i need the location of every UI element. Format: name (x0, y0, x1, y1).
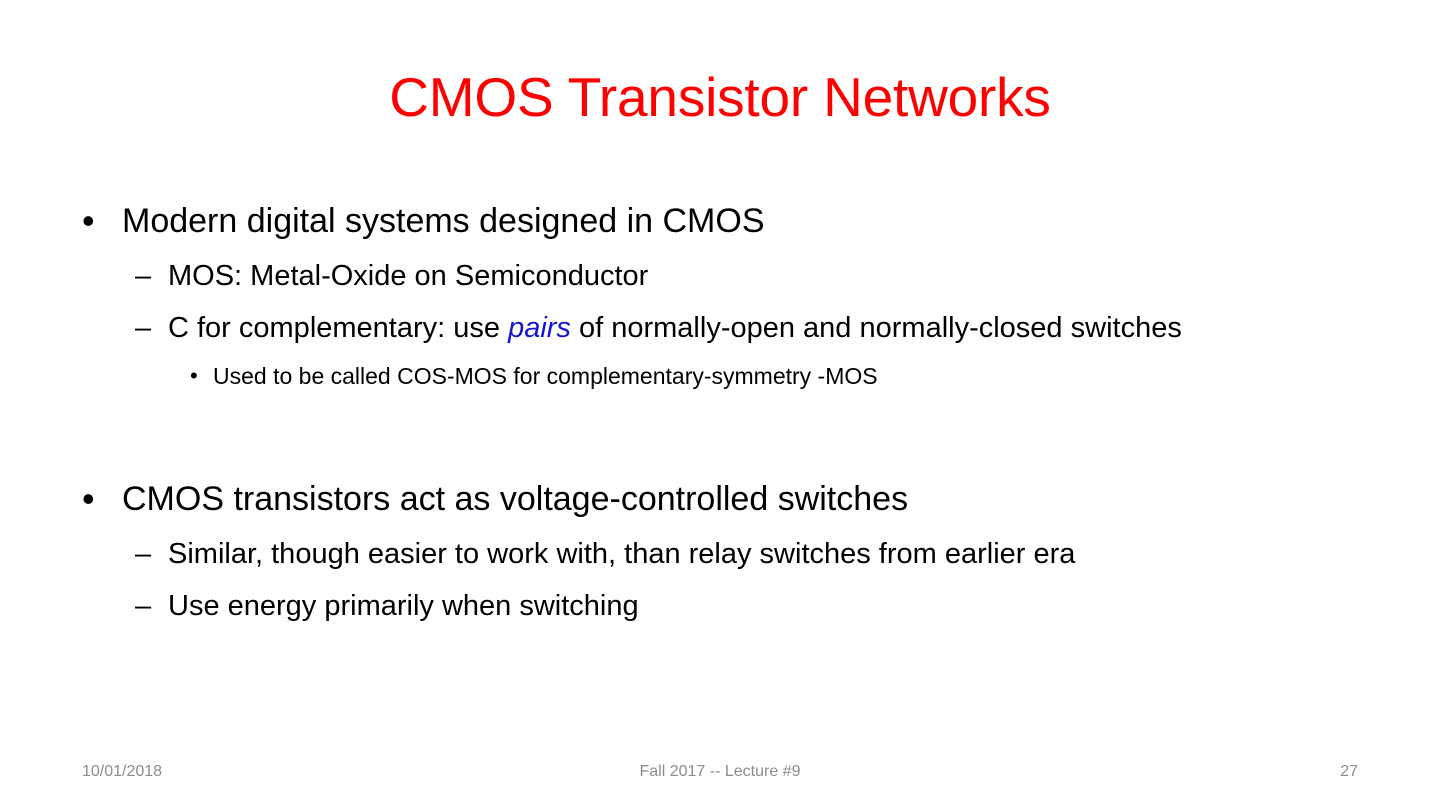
slide-body: • Modern digital systems designed in CMO… (78, 196, 1368, 634)
bullet-marker-icon: • (78, 356, 213, 396)
dash-marker-icon: – (78, 582, 168, 630)
bullet-text: C for complementary: use pairs of normal… (168, 304, 1343, 352)
dash-marker-icon: – (78, 304, 168, 352)
bullet-level1-voltage-controlled-switches: • CMOS transistors act as voltage-contro… (78, 474, 1368, 524)
bullet-text-prefix: C for complementary: use (168, 312, 508, 344)
bullet-text: MOS: Metal-Oxide on Semiconductor (168, 252, 1343, 300)
bullet-level3-cos-mos-history: • Used to be called COS-MOS for compleme… (78, 356, 1368, 396)
bullet-text: Use energy primarily when switching (168, 582, 1343, 630)
bullet-text-suffix: of normally-open and normally-closed swi… (571, 312, 1182, 344)
dash-marker-icon: – (78, 530, 168, 578)
bullet-text: CMOS transistors act as voltage-controll… (122, 474, 1368, 524)
bullet-level2-similar-to-relay-switches: – Similar, though easier to work with, t… (78, 530, 1368, 578)
slide-footer: 10/01/2018 Fall 2017 -- Lecture #9 27 (0, 760, 1440, 788)
bullet-text: Similar, though easier to work with, tha… (168, 530, 1343, 578)
bullet-text: Modern digital systems designed in CMOS (122, 196, 1368, 246)
bullet-level2-c-for-complementary: – C for complementary: use pairs of norm… (78, 304, 1368, 352)
footer-page-number: 27 (1340, 760, 1358, 784)
emphasis-pairs: pairs (508, 312, 571, 344)
section-spacer (78, 400, 1368, 474)
footer-course-label: Fall 2017 -- Lecture #9 (0, 760, 1440, 784)
slide: CMOS Transistor Networks • Modern digita… (0, 0, 1440, 810)
bullet-level2-mos-definition: – MOS: Metal-Oxide on Semiconductor (78, 252, 1368, 300)
bullet-marker-icon: • (78, 474, 122, 524)
bullet-level2-use-energy-when-switching: – Use energy primarily when switching (78, 582, 1368, 630)
bullet-text: Used to be called COS-MOS for complement… (213, 356, 1368, 396)
bullet-level1-modern-digital-systems: • Modern digital systems designed in CMO… (78, 196, 1368, 246)
bullet-marker-icon: • (78, 196, 122, 246)
dash-marker-icon: – (78, 252, 168, 300)
slide-title: CMOS Transistor Networks (0, 62, 1440, 132)
